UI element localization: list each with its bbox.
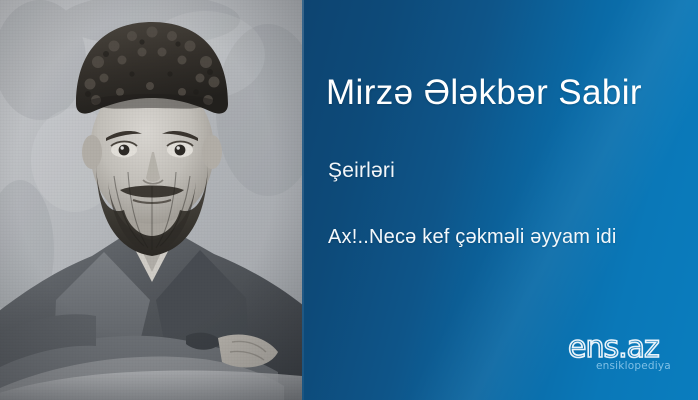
page-title: Mirzə Ələkbər Sabir — [326, 72, 642, 114]
logo-tagline: ensiklopediya — [596, 360, 671, 372]
ens-az-logo[interactable]: ens.az ensiklopediya — [568, 333, 684, 373]
subtitle: Şeirləri — [328, 158, 395, 184]
poem-title: Ax!..Necə kef çəkməli əyyam idi — [328, 224, 617, 250]
portrait-illustration — [0, 0, 302, 400]
logo-graphic: ens.az ensiklopediya — [568, 333, 684, 373]
panel-left-edge — [302, 0, 304, 400]
blue-text-panel: Mirzə Ələkbər Sabir Şeirləri Ax!..Necə k… — [302, 0, 698, 400]
portrait-photo — [0, 0, 302, 400]
poem-banner: Mirzə Ələkbər Sabir Şeirləri Ax!..Necə k… — [0, 0, 698, 400]
